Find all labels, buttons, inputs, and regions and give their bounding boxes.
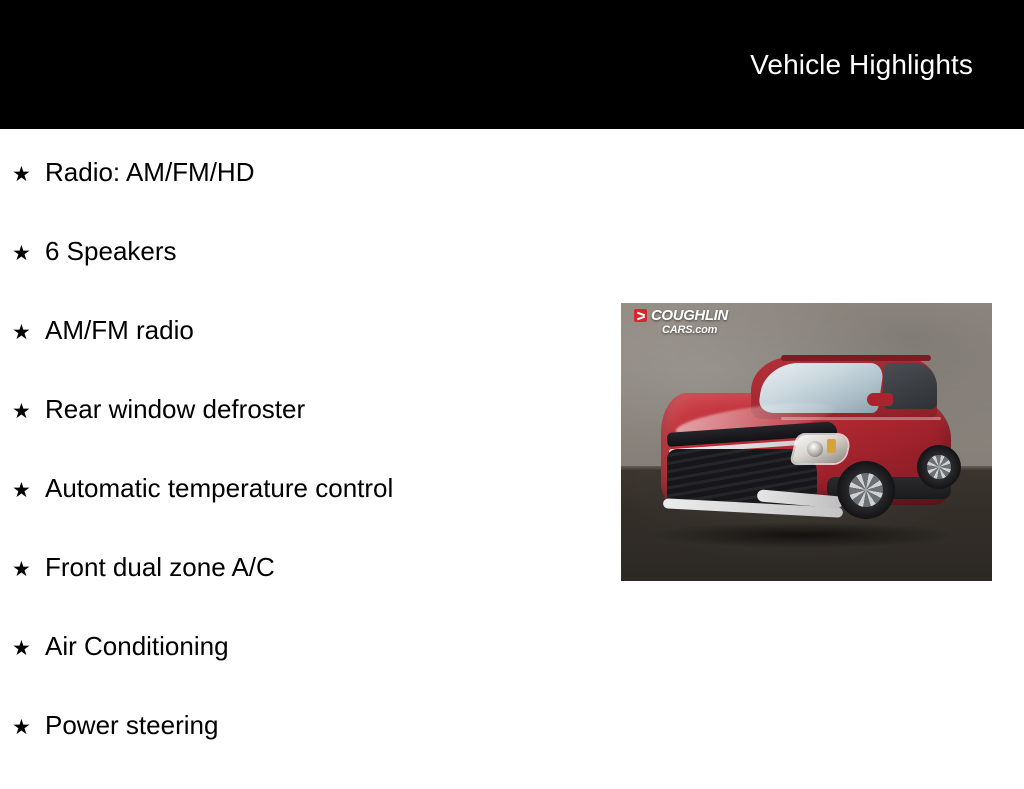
- car-front-wheel: [837, 461, 895, 519]
- header-banner: Vehicle Highlights: [0, 0, 1024, 129]
- star-icon: ★: [12, 162, 45, 188]
- car-beltline-trim: [781, 417, 941, 420]
- list-item: ★ Rear window defroster: [0, 394, 600, 473]
- page-title: Vehicle Highlights: [750, 48, 973, 82]
- star-icon: ★: [12, 715, 45, 741]
- list-item-label: Radio: AM/FM/HD: [45, 157, 255, 187]
- list-item: ★ AM/FM radio: [0, 315, 600, 394]
- list-item-label: Power steering: [45, 710, 218, 740]
- list-item-label: Automatic temperature control: [45, 473, 393, 503]
- car-side-mirror: [867, 393, 893, 406]
- list-item-label: Rear window defroster: [45, 394, 305, 424]
- list-item-label: AM/FM radio: [45, 315, 194, 345]
- vehicle-highlights-list: ★ Radio: AM/FM/HD ★ 6 Speakers ★ AM/FM r…: [0, 129, 600, 789]
- coughlin-logo-icon: [634, 309, 647, 322]
- list-item: ★ Radio: AM/FM/HD: [0, 129, 600, 236]
- star-icon: ★: [12, 399, 45, 425]
- list-item: ★ Automatic temperature control: [0, 473, 600, 552]
- car-headlight-lens: [807, 441, 823, 457]
- car-turn-signal: [827, 439, 836, 453]
- list-item: ★ 6 Speakers: [0, 236, 600, 315]
- vehicle-photo: COUGHLIN CARS.com: [621, 303, 992, 581]
- star-icon: ★: [12, 557, 45, 583]
- watermark-subtext: CARS.com: [662, 325, 717, 336]
- car-rear-wheel-hub: [927, 455, 951, 479]
- list-item-label: Front dual zone A/C: [45, 552, 275, 582]
- car-rear-wheel: [917, 445, 961, 489]
- car-shadow: [653, 522, 953, 548]
- car-front-wheel-hub: [849, 473, 883, 507]
- star-icon: ★: [12, 478, 45, 504]
- star-icon: ★: [12, 241, 45, 267]
- watermark-brand-row: COUGHLIN: [634, 308, 728, 323]
- car-roof-rail: [781, 355, 931, 361]
- list-item: ★ Power steering: [0, 710, 600, 789]
- list-item: ★ Front dual zone A/C: [0, 552, 600, 631]
- watermark-brand: COUGHLIN: [651, 308, 728, 323]
- list-item-label: Air Conditioning: [45, 631, 229, 661]
- star-icon: ★: [12, 320, 45, 346]
- car-illustration: [631, 341, 983, 556]
- star-icon: ★: [12, 636, 45, 662]
- list-item: ★ Air Conditioning: [0, 631, 600, 710]
- dealer-watermark: COUGHLIN CARS.com: [634, 308, 728, 336]
- list-item-label: 6 Speakers: [45, 236, 177, 266]
